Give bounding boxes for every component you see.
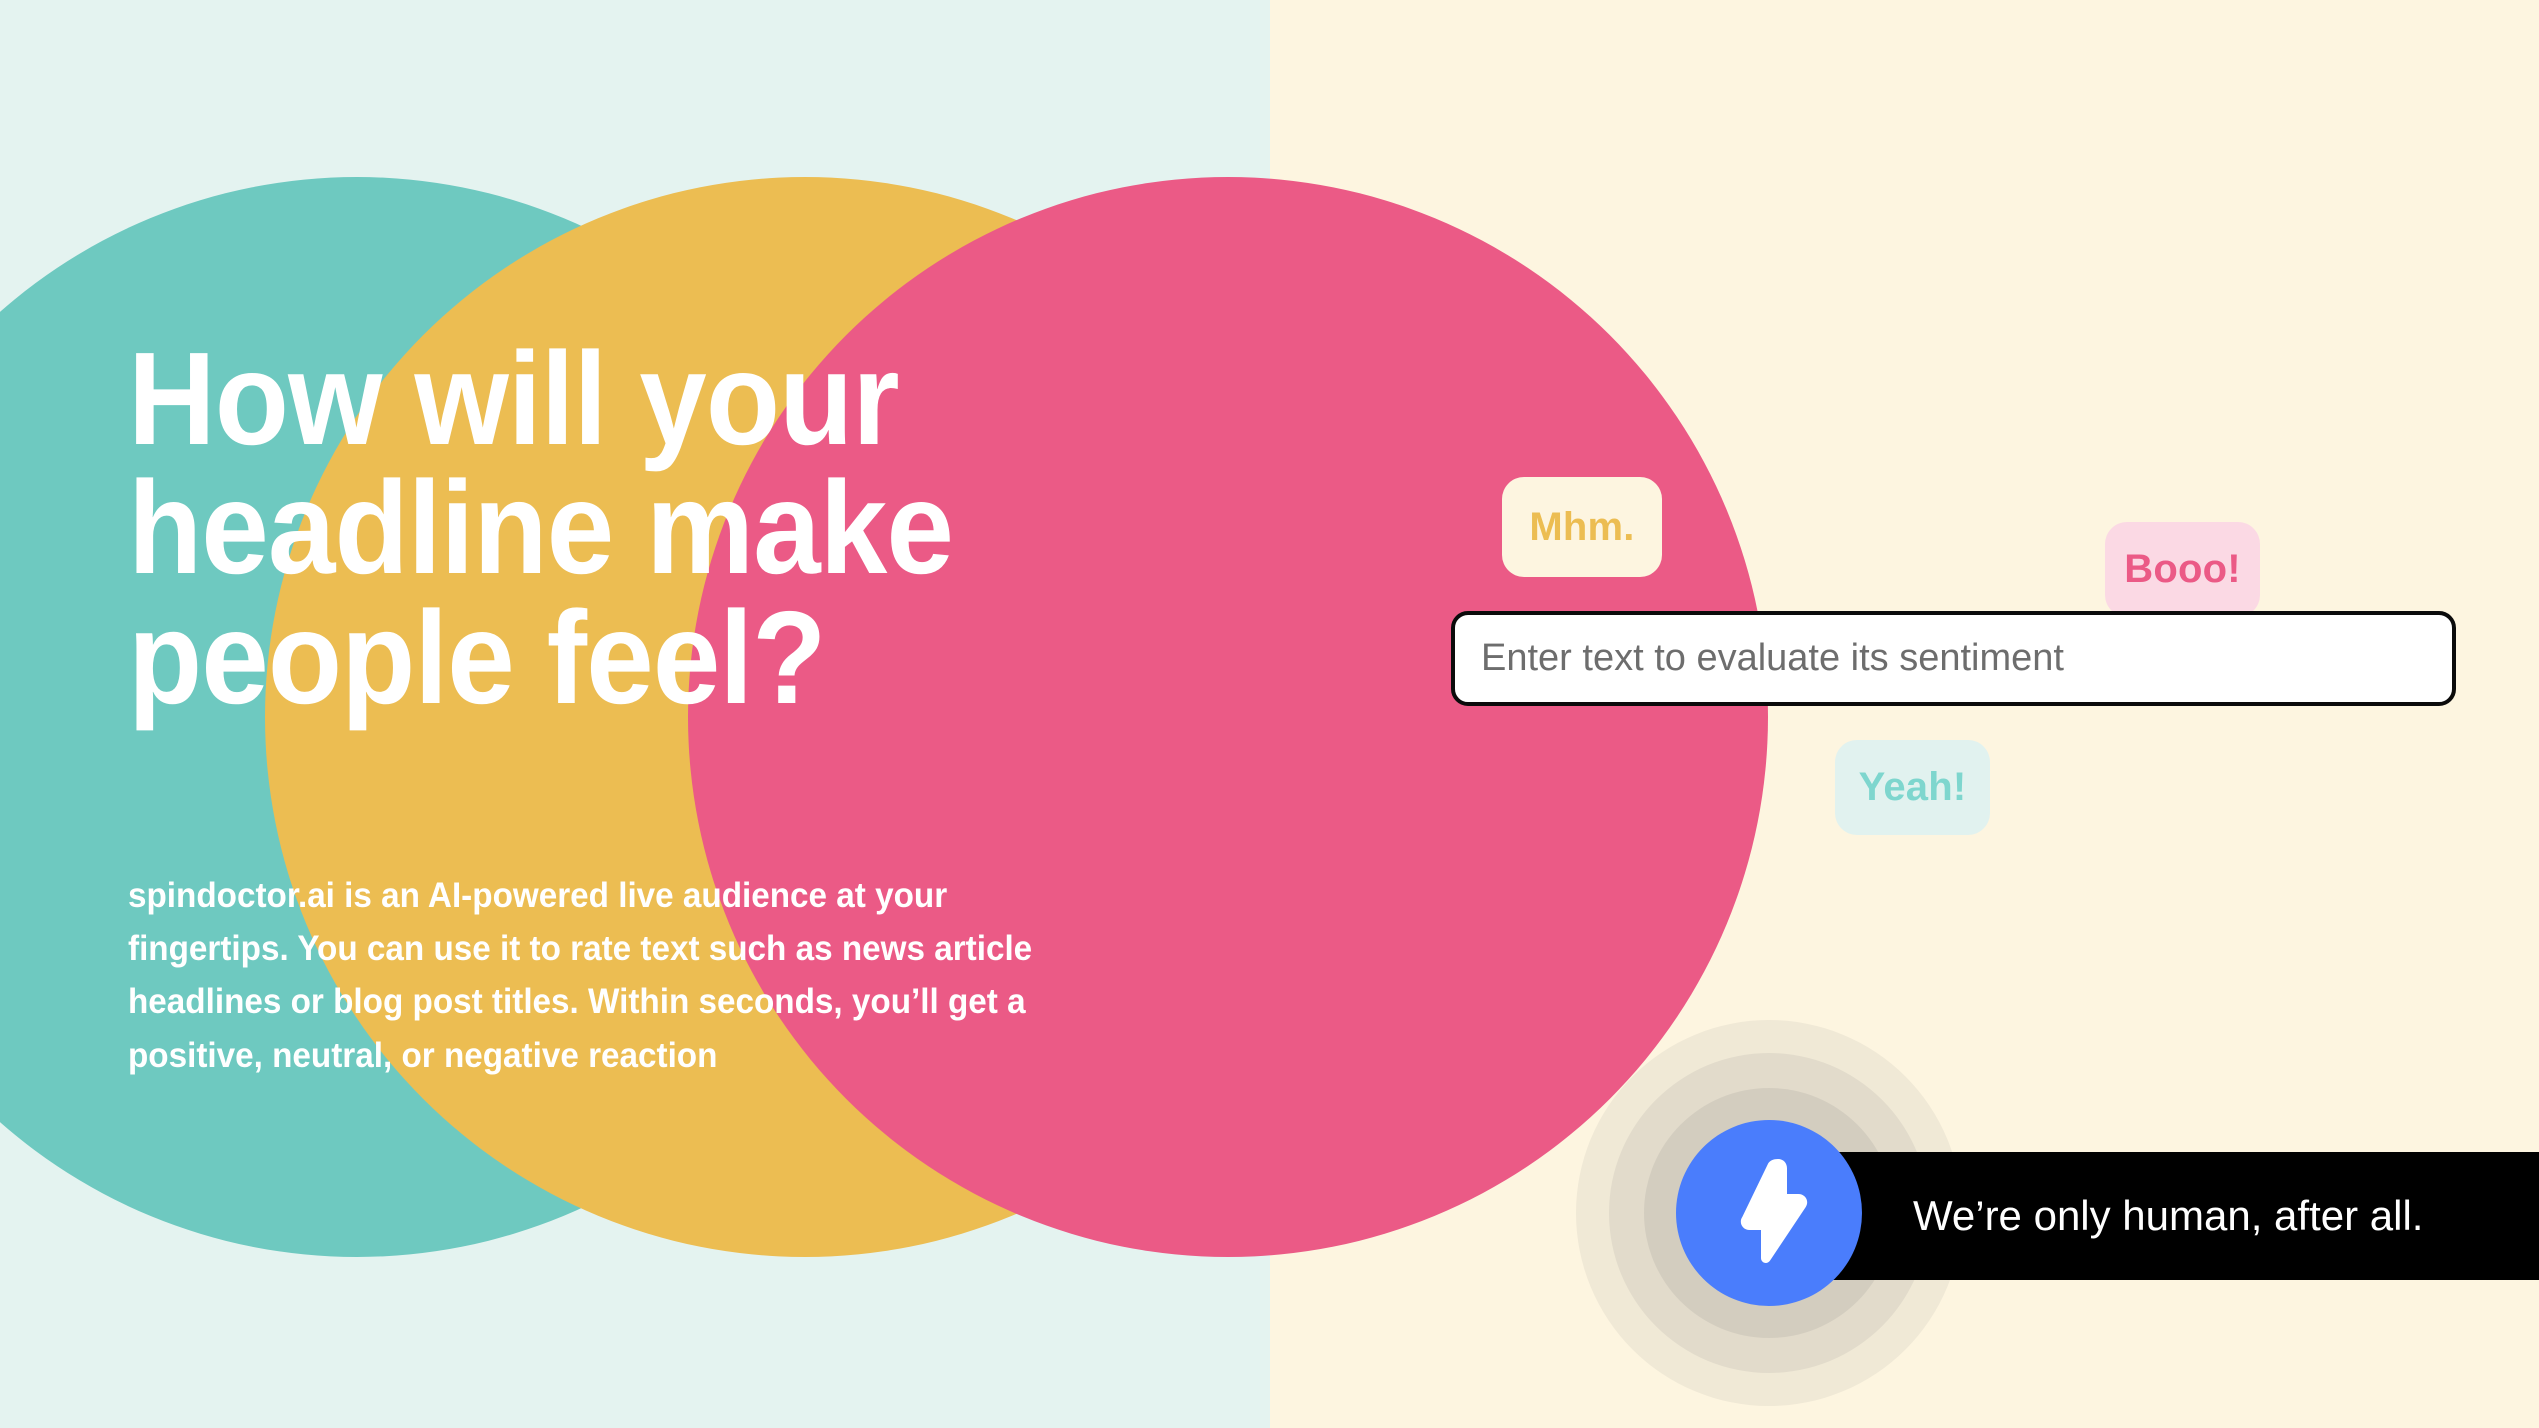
page-title: How will your headline make people feel? (128, 334, 1112, 722)
sentiment-badge-negative: Booo! (2105, 522, 2260, 617)
widget-tooltip-label: We’re only human, after all. (1913, 1192, 2423, 1240)
sentiment-badge-neutral: Mhm. (1502, 477, 1662, 577)
hero-description: spindoctor.ai is an AI-powered live audi… (128, 869, 1088, 1082)
hero-copy-block: How will your headline make people feel?… (128, 334, 1198, 722)
lightning-bolt-button[interactable] (1676, 1120, 1862, 1306)
widget-tooltip: We’re only human, after all. (1833, 1152, 2539, 1280)
sentiment-badge-positive: Yeah! (1835, 740, 1990, 835)
lightning-bolt-icon (1721, 1153, 1817, 1273)
hero-page: How will your headline make people feel?… (0, 0, 2539, 1428)
sentiment-input[interactable] (1451, 611, 2456, 706)
